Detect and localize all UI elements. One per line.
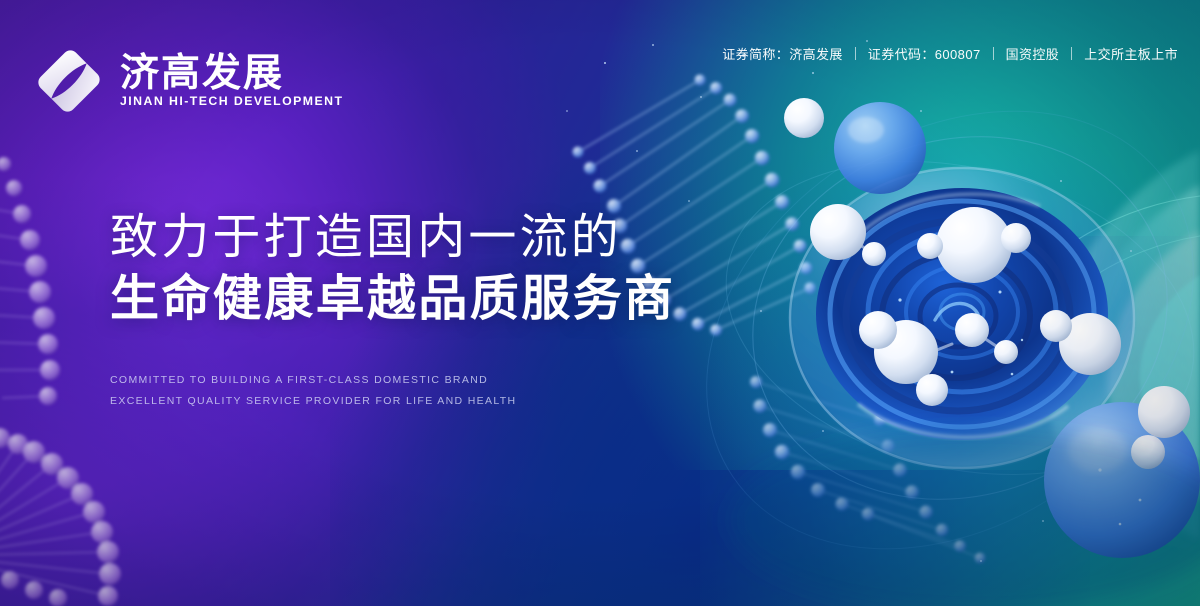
- stock-separator: [993, 47, 994, 60]
- stock-item-ownership: 国资控股: [1006, 44, 1060, 63]
- logo-company-name-en: JINAN HI-TECH DEVELOPMENT: [120, 95, 343, 107]
- subtitle: COMMITTED TO BUILDING A FIRST-CLASS DOME…: [110, 370, 516, 412]
- stock-item-abbreviation: 证券简称：济高发展: [722, 44, 843, 63]
- stock-item-listing: 上交所主板上市: [1084, 44, 1178, 63]
- subtitle-line-2: EXCELLENT QUALITY SERVICE PROVIDER FOR L…: [110, 391, 516, 412]
- headline: 致力于打造国内一流的 生命健康卓越品质服务商: [110, 208, 675, 330]
- stock-item-code: 证券代码：600807: [868, 44, 981, 63]
- headline-line-2: 生命健康卓越品质服务商: [110, 268, 675, 330]
- subtitle-line-1: COMMITTED TO BUILDING A FIRST-CLASS DOME…: [110, 370, 516, 391]
- jinan-hi-tech-diamond-mark: [32, 44, 106, 118]
- logo[interactable]: 济高发展 JINAN HI-TECH DEVELOPMENT: [32, 44, 343, 118]
- headline-line-1: 致力于打造国内一流的: [110, 208, 675, 268]
- stock-info-bar: 证券简称：济高发展 证券代码：600807 国资控股 上交所主板上市: [722, 44, 1178, 63]
- hero-banner: 济高发展 JINAN HI-TECH DEVELOPMENT 证券简称：济高发展…: [0, 0, 1200, 606]
- logo-company-name-cn: 济高发展: [120, 54, 343, 93]
- stock-separator: [855, 47, 856, 60]
- stock-separator: [1071, 47, 1072, 60]
